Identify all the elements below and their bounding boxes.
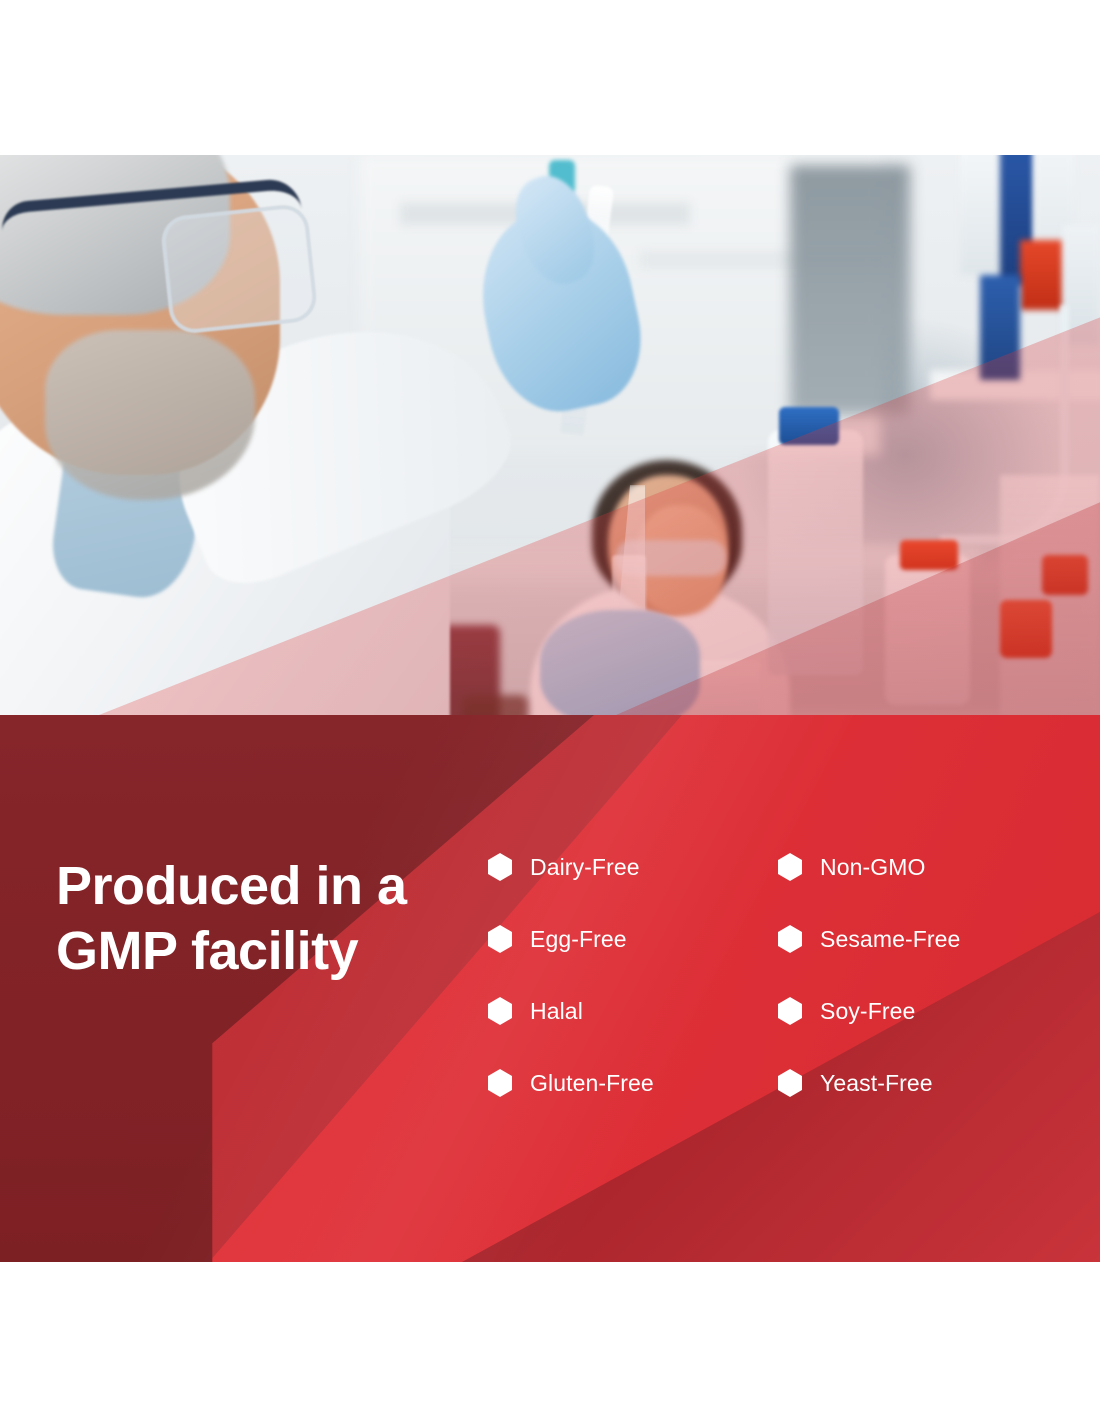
hexagon-bullet-icon (488, 853, 512, 881)
hexagon-bullet-icon (488, 1069, 512, 1097)
hexagon-bullet-icon (488, 925, 512, 953)
reagent-bottle-2 (885, 555, 970, 705)
claim-item-egg-free: Egg-Free (488, 925, 778, 953)
claim-label: Egg-Free (530, 926, 627, 953)
claim-item-non-gmo: Non-GMO (778, 853, 1068, 881)
red-bottle-cap-1 (900, 540, 958, 570)
claim-label: Sesame-Free (820, 926, 960, 953)
claim-label: Dairy-Free (530, 854, 640, 881)
claim-label: Non-GMO (820, 854, 926, 881)
claim-item-dairy-free: Dairy-Free (488, 853, 778, 881)
red-bottle-cap-2 (1000, 600, 1052, 658)
claim-item-yeast-free: Yeast-Free (778, 1069, 1068, 1097)
shelf-product-box-1 (960, 155, 1002, 275)
reagent-bottle (768, 430, 863, 675)
safety-glasses-lens (159, 203, 319, 336)
claims-banner: Produced in a GMP facility Dairy-Free No… (0, 715, 1100, 1262)
red-bottle-cap-3 (1042, 555, 1088, 595)
hexagon-bullet-icon (778, 997, 802, 1025)
background-recess (790, 165, 910, 415)
claim-item-sesame-free: Sesame-Free (778, 925, 1068, 953)
hexagon-bullet-icon (488, 997, 512, 1025)
claim-label: Halal (530, 998, 583, 1025)
test-tube-rack (1000, 475, 1100, 715)
hexagon-bullet-icon (778, 1069, 802, 1097)
claims-list: Dairy-Free Non-GMO Egg-Free Sesame-Free (488, 831, 1068, 1119)
claim-item-gluten-free: Gluten-Free (488, 1069, 778, 1097)
hexagon-bullet-icon (778, 853, 802, 881)
blue-glove-lower (540, 610, 700, 715)
dark-reagent-jar-2 (462, 695, 528, 715)
claim-label: Soy-Free (820, 998, 915, 1025)
page-title: Produced in a GMP facility (56, 854, 456, 984)
claim-item-halal: Halal (488, 997, 778, 1025)
lab-background (0, 155, 1100, 715)
product-infographic-page: Produced in a GMP facility Dairy-Free No… (0, 0, 1100, 1422)
claim-label: Gluten-Free (530, 1070, 654, 1097)
claim-item-soy-free: Soy-Free (778, 997, 1068, 1025)
hexagon-bullet-icon (778, 925, 802, 953)
foreground-scientist-beard (45, 330, 255, 500)
shelf-product-box-4 (1020, 240, 1066, 310)
claim-label: Yeast-Free (820, 1070, 933, 1097)
laboratory-photo (0, 155, 1100, 715)
reagent-bottle-cap (779, 407, 839, 445)
banner-content: Produced in a GMP facility Dairy-Free No… (0, 715, 1100, 1262)
